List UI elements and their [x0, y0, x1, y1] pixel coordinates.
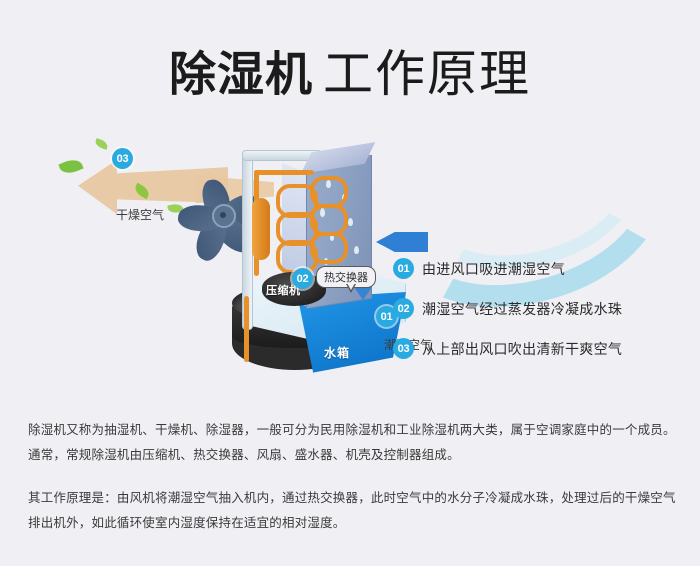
refrigerant-coil: [310, 232, 348, 264]
body-paragraph-2: 其工作原理是：由风机将潮湿空气抽入机内，通过热交换器，此时空气中的水分子冷凝成水…: [28, 486, 676, 536]
step-text-01: 由进风口吸进潮湿空气: [422, 259, 565, 279]
fan-hub: [212, 204, 236, 228]
steps-list: 01 由进风口吸进潮湿空气 02 潮湿空气经过蒸发器冷凝成水珠 03 从上部出风…: [393, 258, 693, 378]
callout-pointer-icon: [346, 284, 356, 293]
accumulator-tank: [252, 198, 270, 260]
diagram-badge-02: 02: [292, 268, 313, 289]
title-part-2: 工作原理: [323, 46, 531, 102]
diagram-badge-03: 03: [112, 148, 133, 169]
leaf-icon: [94, 138, 109, 150]
step-badge-02: 02: [393, 298, 414, 319]
step-text-02: 潮湿空气经过蒸发器冷凝成水珠: [422, 299, 622, 319]
water-tank-label: 水箱: [324, 344, 350, 361]
title-part-1: 除湿机: [169, 48, 313, 101]
water-droplet-icon: [348, 218, 353, 226]
step-text-03: 从上部出风口吹出清新干爽空气: [422, 339, 622, 359]
refrigerant-pipe: [254, 170, 314, 175]
step-item: 03 从上部出风口吹出清新干爽空气: [393, 338, 693, 359]
body-copy: 除湿机又称为抽湿机、干燥机、除湿器，一般可分为民用除湿机和工业除湿机两大类，属于…: [28, 418, 676, 554]
step-badge-01: 01: [393, 258, 414, 279]
step-badge-03: 03: [393, 338, 414, 359]
step-item: 01 由进风口吸进潮湿空气: [393, 258, 693, 279]
air-intake-arrow-icon: [376, 232, 428, 252]
body-paragraph-1: 除湿机又称为抽湿机、干燥机、除湿器，一般可分为民用除湿机和工业除湿机两大类，属于…: [28, 418, 676, 468]
page-title: 除湿机工作原理: [0, 34, 700, 106]
water-droplet-icon: [354, 246, 359, 254]
refrigerant-pipe-drain: [244, 296, 249, 362]
infographic-page: 除湿机工作原理 水箱: [0, 0, 700, 566]
leaf-icon: [58, 156, 83, 176]
step-item: 02 潮湿空气经过蒸发器冷凝成水珠: [393, 298, 693, 319]
diagram-label-dry-air: 干燥空气: [116, 206, 164, 223]
